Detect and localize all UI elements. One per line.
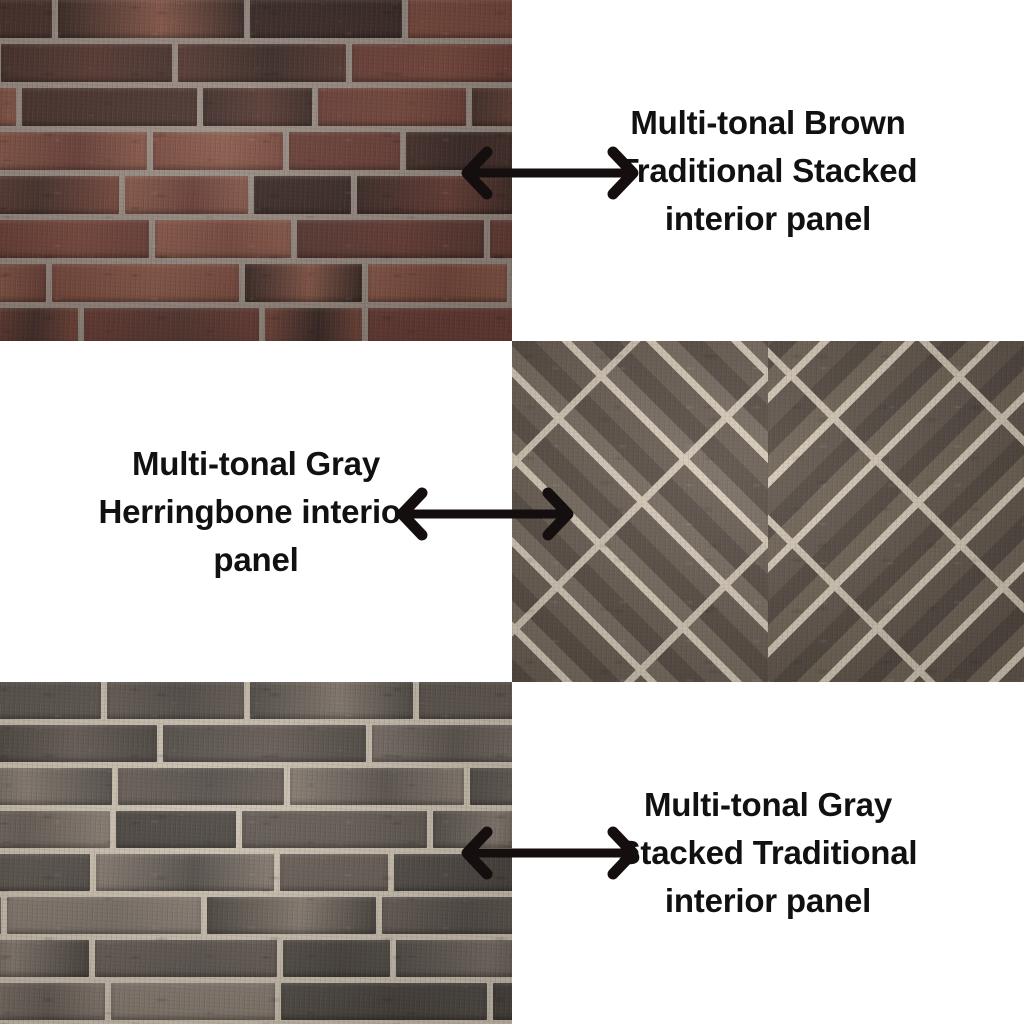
brick — [95, 940, 277, 977]
brick — [470, 768, 512, 805]
brick-row — [0, 44, 512, 88]
brick-image-multi-tonal-gray-stacked-traditional — [0, 682, 512, 1024]
brick — [472, 88, 512, 126]
brick-row — [0, 308, 512, 341]
brick — [58, 0, 244, 38]
brick — [265, 308, 362, 341]
caption-multi-tonal-brown-traditional-stacked: Multi-tonal Brown Traditional Stacked in… — [619, 99, 918, 243]
brick — [0, 220, 149, 258]
brick — [254, 176, 351, 214]
brick — [203, 88, 312, 126]
brick — [0, 308, 78, 341]
brick — [0, 88, 16, 126]
caption-multi-tonal-gray-herringbone: Multi-tonal Gray Herringbone interior pa… — [98, 440, 413, 584]
brick — [352, 44, 512, 82]
brick — [1, 44, 172, 82]
brick — [490, 220, 512, 258]
brick-row — [0, 725, 512, 768]
brick — [107, 682, 244, 719]
brick-row — [0, 682, 512, 725]
brick — [155, 220, 291, 258]
caption-multi-tonal-gray-stacked-traditional: Multi-tonal Gray Stacked Traditional int… — [619, 781, 918, 925]
brick — [96, 854, 274, 891]
brick-row — [0, 811, 512, 854]
brick — [283, 940, 390, 977]
brick — [280, 854, 388, 891]
brick-row — [0, 983, 512, 1024]
double-headed-arrow-herringbone-panel[interactable] — [390, 481, 580, 547]
double-headed-arrow-gray-panel[interactable] — [455, 820, 645, 886]
brick — [116, 811, 236, 848]
gray-herringbone-texture — [512, 341, 1024, 682]
brick — [0, 725, 157, 762]
brick-row — [0, 854, 512, 897]
brick — [250, 0, 402, 38]
brick — [0, 940, 89, 977]
brick — [368, 308, 512, 341]
brick-row — [0, 0, 512, 44]
brick-row — [0, 132, 512, 176]
brick — [163, 725, 366, 762]
brick-image-multi-tonal-brown-traditional-stacked — [0, 0, 512, 341]
gray-brick-texture — [0, 682, 512, 1024]
brick — [0, 983, 105, 1020]
brick — [207, 897, 376, 934]
double-headed-arrow-brown-panel[interactable] — [455, 140, 645, 206]
brick — [297, 220, 484, 258]
brick — [419, 682, 512, 719]
comparison-collage: Multi-tonal Brown Traditional Stacked in… — [0, 0, 1024, 1024]
brick-row — [0, 88, 512, 132]
brick — [22, 88, 197, 126]
brick — [372, 725, 512, 762]
brick — [0, 0, 52, 38]
brick-row — [0, 897, 512, 940]
brick — [396, 940, 512, 977]
brick — [318, 88, 466, 126]
brick — [118, 768, 284, 805]
brick-row — [0, 768, 512, 811]
brick — [368, 264, 507, 302]
brown-brick-texture — [0, 0, 512, 341]
brick — [111, 983, 275, 1020]
brick — [0, 132, 147, 170]
herringbone-right-field — [768, 341, 1024, 682]
brick — [250, 682, 413, 719]
brick — [153, 132, 283, 170]
brick — [0, 854, 90, 891]
brick — [0, 682, 101, 719]
brick — [0, 176, 119, 214]
brick — [125, 176, 248, 214]
brick — [493, 983, 512, 1020]
brick — [242, 811, 427, 848]
brick-row — [0, 264, 512, 308]
brick — [84, 308, 259, 341]
brick-row — [0, 176, 512, 220]
brick — [52, 264, 239, 302]
brick — [0, 768, 112, 805]
brick — [289, 132, 400, 170]
brick — [0, 811, 110, 848]
brick — [178, 44, 346, 82]
brick — [382, 897, 512, 934]
brick — [281, 983, 487, 1020]
brick — [0, 264, 46, 302]
brick-row — [0, 220, 512, 264]
brick-row — [0, 940, 512, 983]
brick — [290, 768, 464, 805]
brick — [0, 897, 1, 934]
brick — [7, 897, 201, 934]
brick-image-multi-tonal-gray-herringbone — [512, 341, 1024, 682]
brick — [245, 264, 362, 302]
brick — [408, 0, 512, 38]
